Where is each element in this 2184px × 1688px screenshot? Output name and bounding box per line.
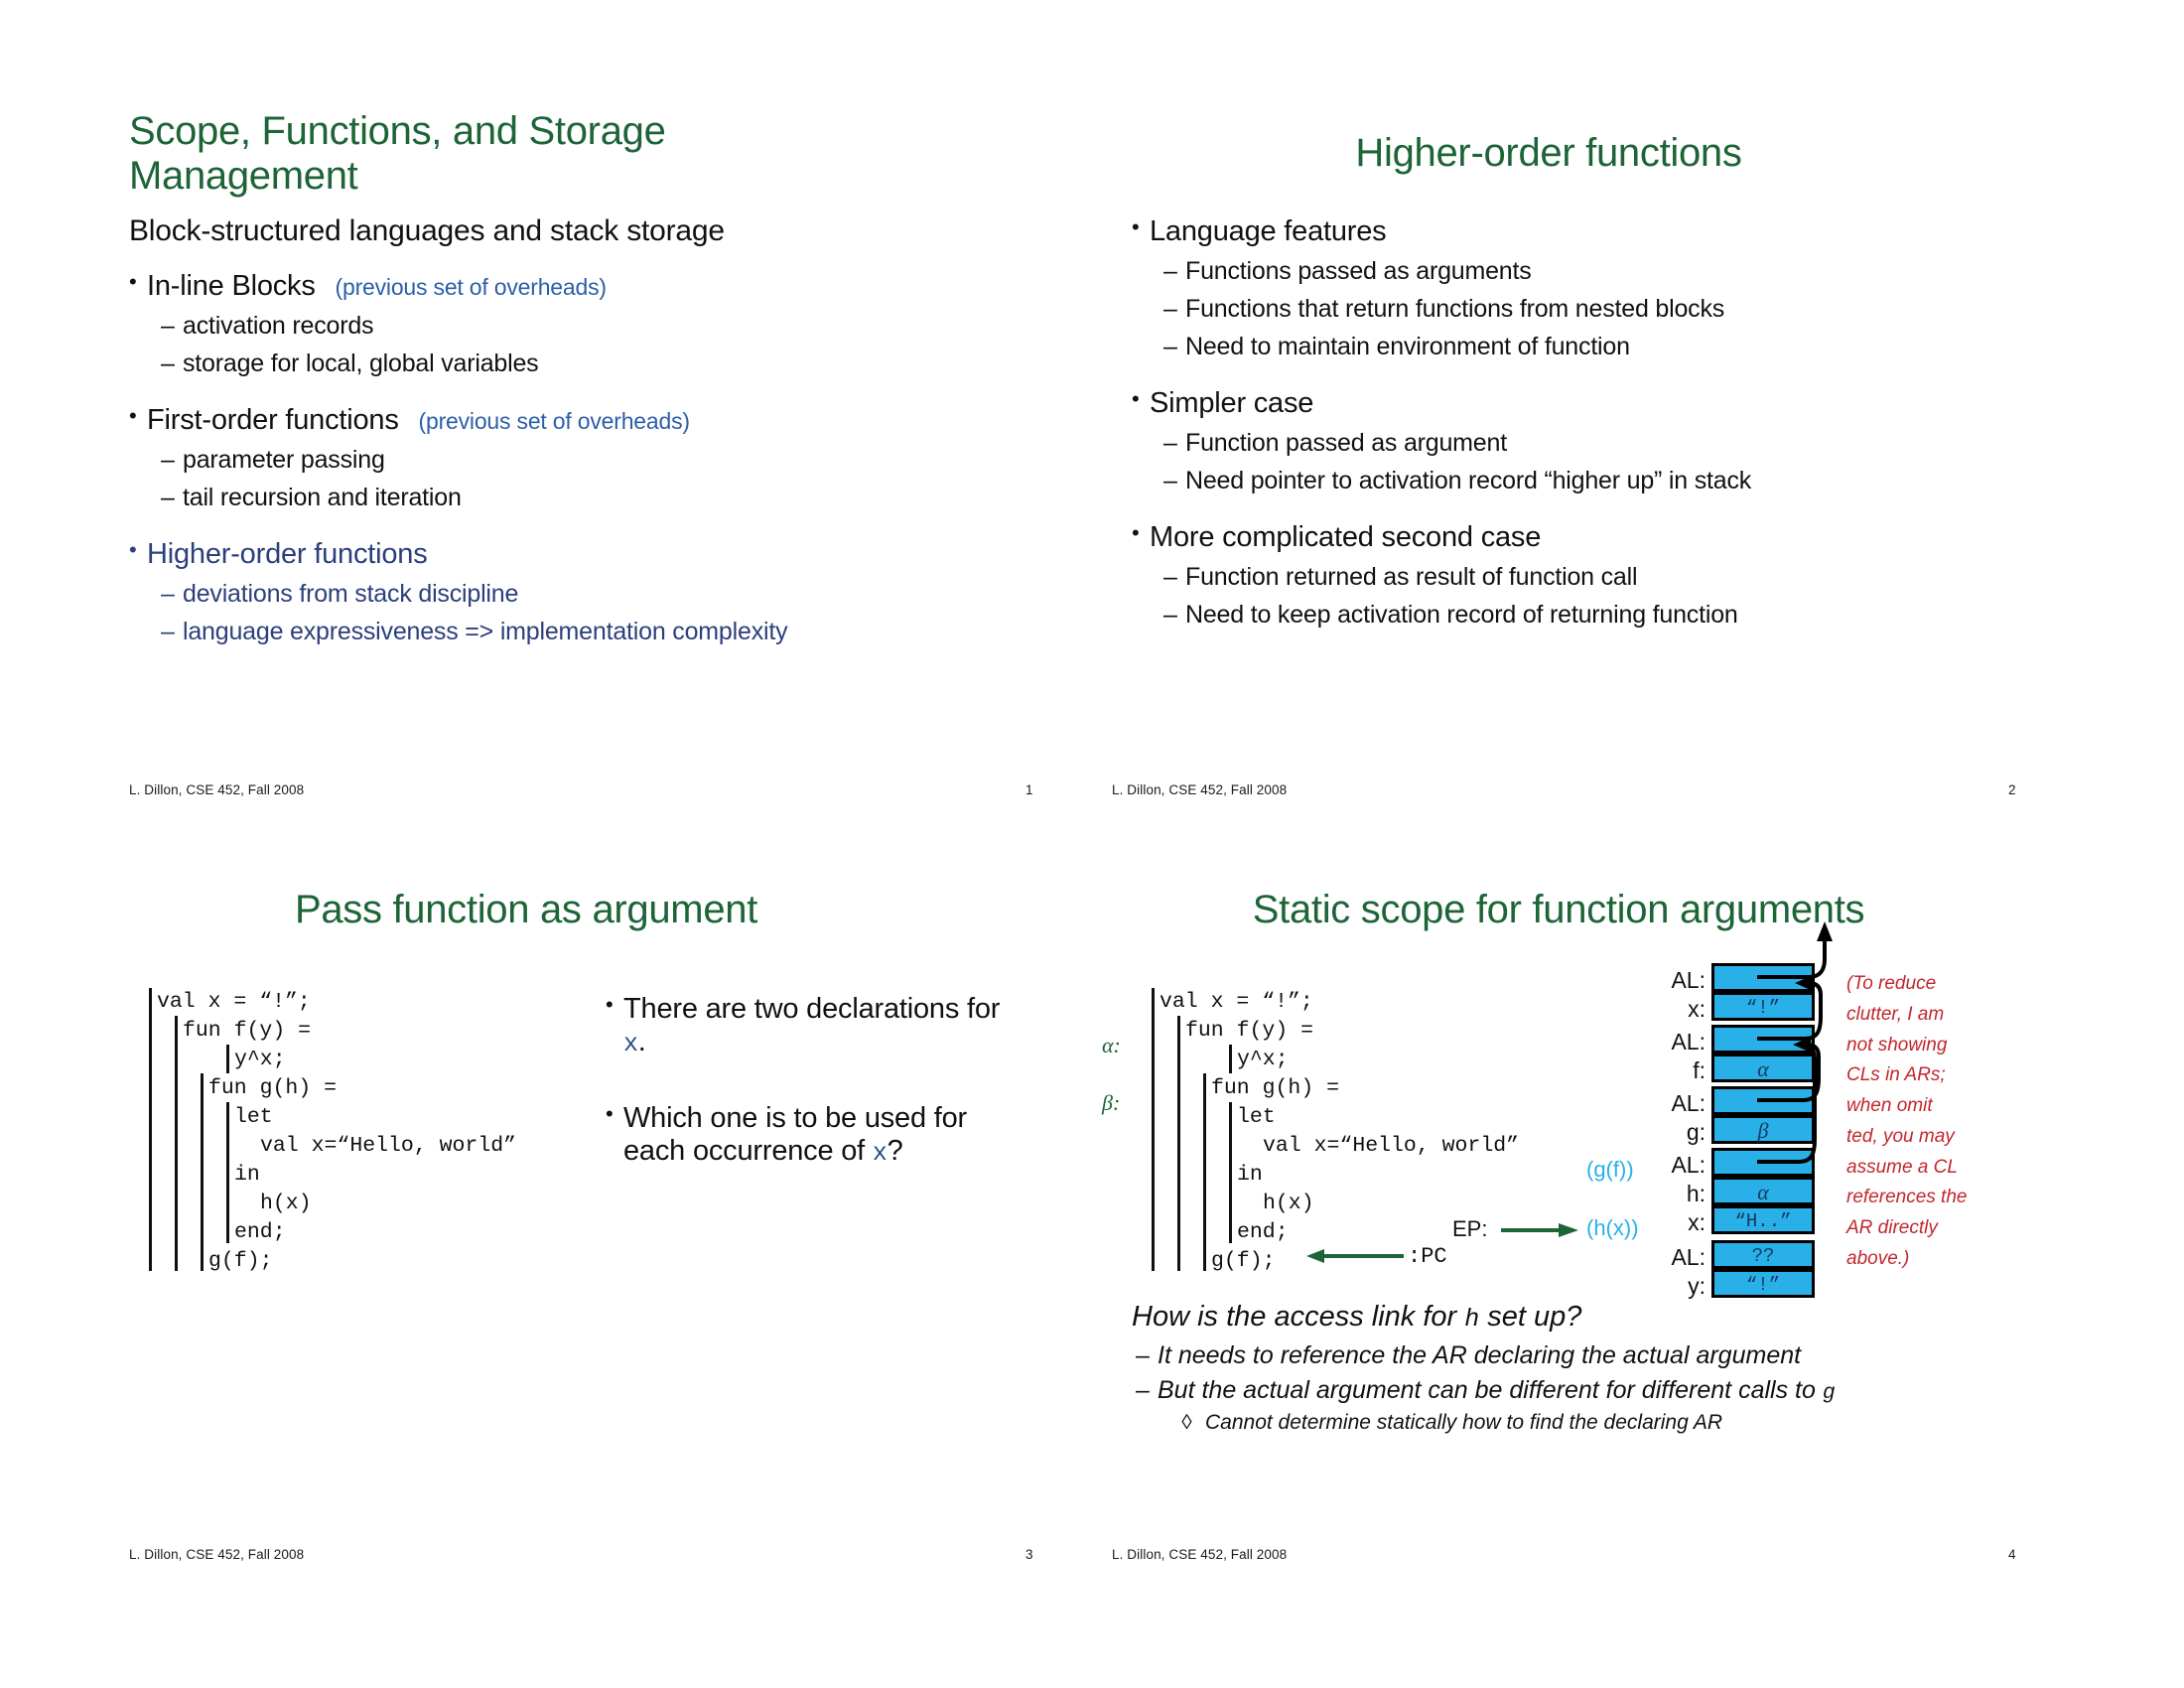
code-line: val x = “!”; [157, 988, 311, 1017]
code-line: let [234, 1103, 273, 1132]
code-line: fun f(y) = [183, 1017, 311, 1046]
nesting-bar-let [226, 1102, 229, 1243]
nesting-bar-outer [1152, 988, 1155, 1271]
bullet-which-one: Which one is to be used for each occurre… [606, 1102, 1023, 1168]
code-line: in [1237, 1161, 1263, 1190]
pc-arrow-icon [1300, 1244, 1410, 1268]
ar-row-label: AL: [1648, 1152, 1706, 1179]
code-line: val x = “!”; [1160, 988, 1313, 1017]
sub-bullet: Function passed as argument [1132, 429, 2045, 458]
inline-code-h: h [1464, 1306, 1479, 1334]
activation-record-stack: AL: x: “!” AL: f: α AL: g: β AL: h: α x: [1648, 963, 1846, 1251]
handout-page: Scope, Functions, and Storage Management… [0, 0, 2184, 1688]
annotation-line: not showing [1846, 1031, 1995, 1061]
bullet-text-pre: Which one is to be used for each occurre… [623, 1102, 967, 1167]
slide-4-footer: L. Dillon, CSE 452, Fall 2008 [1112, 1547, 1287, 1562]
annotation-line: assume a CL [1846, 1153, 1995, 1184]
sub-bullet: Need to maintain environment of function [1132, 333, 2045, 361]
slide-3-footer: L. Dillon, CSE 452, Fall 2008 [129, 1547, 304, 1562]
slide-1-footer: L. Dillon, CSE 452, Fall 2008 [129, 782, 304, 797]
call-label-h: (h(x)) [1586, 1215, 1639, 1241]
sub-bullet: activation records [129, 312, 1062, 341]
ar-row-label: AL: [1648, 967, 1706, 994]
bullet-label: More complicated second case [1150, 521, 1541, 553]
bullet-simpler-case: Simpler case [1132, 387, 2045, 420]
bullet-in-line-blocks: In-line Blocks (previous set of overhead… [129, 270, 1062, 303]
inline-code-g: g [1823, 1381, 1836, 1405]
slide-1: Scope, Functions, and Storage Management… [129, 109, 1062, 814]
nesting-bar-g [201, 1073, 204, 1271]
code-line: y^x; [234, 1046, 286, 1074]
code-line: h(x) [260, 1190, 312, 1218]
scope-label-beta: β: [1102, 1090, 1120, 1116]
sub-bullet: tail recursion and iteration [129, 484, 1062, 512]
nesting-bar-f [175, 1016, 178, 1271]
slide-4: Static scope for function arguments α: β… [1112, 874, 2045, 1579]
pc-label: :PC [1408, 1242, 1447, 1272]
slide-3-code-block: val x = “!”; fun f(y) = y^x; fun g(h) = … [149, 988, 576, 1276]
annotation-line: AR directly [1846, 1213, 1995, 1244]
bullet-first-order-functions: First-order functions (previous set of o… [129, 404, 1062, 437]
code-line: h(x) [1263, 1190, 1314, 1218]
discussion-diamond: Cannot determine statically how to find … [1132, 1411, 2025, 1435]
ar-row-label: g: [1648, 1119, 1706, 1146]
slide-2-footer: L. Dillon, CSE 452, Fall 2008 [1112, 782, 1287, 797]
bullet-text-pre: There are two declarations for [623, 993, 1000, 1025]
ar-row-label: h: [1648, 1181, 1706, 1207]
discussion-dash-1: It needs to reference the AR declaring t… [1132, 1341, 2025, 1370]
code-line: fun f(y) = [1185, 1017, 1313, 1046]
question-pre: How is the access link for [1132, 1301, 1464, 1333]
sub-bullet: Functions that return functions from nes… [1132, 295, 2045, 324]
nesting-bar-let [1229, 1102, 1232, 1243]
discussion-dash-2: But the actual argument can be different… [1132, 1376, 2025, 1405]
code-line: fun g(h) = [1211, 1074, 1339, 1103]
ar-row-label: f: [1648, 1057, 1706, 1084]
bullet-text-post: . [638, 1026, 646, 1057]
nesting-bar-g [1203, 1073, 1206, 1271]
slide-1-subtitle: Block-structured languages and stack sto… [129, 214, 1062, 248]
bullet-label: Simpler case [1150, 387, 1313, 419]
nesting-bar-fbody [1229, 1045, 1232, 1073]
annotation-line: (To reduce [1846, 969, 1995, 1000]
slide-1-page-number: 1 [1025, 782, 1033, 797]
bullet-label: Language features [1150, 215, 1386, 247]
annotation-line: ted, you may [1846, 1122, 1995, 1153]
red-annotation: (To reduce clutter, I am not showing CLs… [1846, 969, 1995, 1275]
slide-1-title: Scope, Functions, and Storage Management [129, 109, 864, 199]
question-post: set up? [1479, 1301, 1581, 1333]
scope-label-alpha: α: [1102, 1033, 1121, 1058]
ar-row-label: AL: [1648, 1244, 1706, 1271]
bullet-label: In-line Blocks [147, 270, 316, 302]
ar-row-label: y: [1648, 1273, 1706, 1300]
code-line: let [1237, 1103, 1276, 1132]
code-line: end; [234, 1218, 286, 1247]
sub-bullet: Need pointer to activation record “highe… [1132, 467, 2045, 495]
dash-text-pre: But the actual argument can be different… [1158, 1376, 1823, 1404]
code-line: y^x; [1237, 1046, 1289, 1074]
slide-2: Higher-order functions Language features… [1112, 109, 2045, 814]
slide-3: Pass function as argument val x = “!”; f… [129, 874, 1062, 1579]
bullet-two-declarations: There are two declarations for x. [606, 993, 1023, 1058]
code-line: g(f); [1211, 1247, 1276, 1276]
bullet-language-features: Language features [1132, 215, 2045, 248]
bullet-text-post: ? [887, 1135, 903, 1167]
bullet-more-complicated-second-case: More complicated second case [1132, 521, 2045, 554]
call-label-g: (g(f)) [1586, 1157, 1634, 1183]
sub-bullet: storage for local, global variables [129, 350, 1062, 378]
nesting-bar-f [1177, 1016, 1180, 1271]
sub-bullet: language expressiveness => implementatio… [129, 618, 1062, 646]
code-line: fun g(h) = [208, 1074, 337, 1103]
slide-2-page-number: 2 [2008, 782, 2016, 797]
code-line: val x=“Hello, world” [1263, 1132, 1519, 1161]
ar-row-label: AL: [1648, 1090, 1706, 1117]
code-line: in [234, 1161, 260, 1190]
annotation-line: references the [1846, 1183, 1995, 1213]
annotation-line: when omit [1846, 1091, 1995, 1122]
bullet-note: (previous set of overheads) [336, 274, 607, 300]
annotation-line: clutter, I am [1846, 1000, 1995, 1031]
slide-3-title: Pass function as argument [129, 888, 923, 932]
slide-4-title: Static scope for function arguments [1112, 888, 2005, 932]
annotation-line: above.) [1846, 1244, 1995, 1275]
inline-code-x: x [873, 1140, 887, 1168]
ar-row-label: x: [1648, 1209, 1706, 1236]
inline-code-x: x [623, 1031, 638, 1058]
ep-arrow-icon [1501, 1218, 1580, 1242]
bullet-higher-order-functions: Higher-order functions [129, 538, 1062, 571]
sub-bullet: deviations from stack discipline [129, 580, 1062, 609]
annotation-line: CLs in ARs; [1846, 1060, 1995, 1091]
ar-row-label: x: [1648, 996, 1706, 1023]
access-link-question: How is the access link for h set up? [1132, 1301, 2025, 1334]
sub-bullet: Functions passed as arguments [1132, 257, 2045, 286]
nesting-bar-fbody [226, 1045, 229, 1073]
slide-3-page-number: 3 [1025, 1547, 1033, 1562]
ar-row-label: AL: [1648, 1029, 1706, 1055]
code-line: val x=“Hello, world” [260, 1132, 516, 1161]
code-line: g(f); [208, 1247, 273, 1276]
code-line: end; [1237, 1218, 1289, 1247]
ep-label: EP: [1452, 1216, 1487, 1242]
bullet-label: Higher-order functions [147, 538, 428, 570]
sub-bullet: parameter passing [129, 446, 1062, 475]
slide-4-page-number: 4 [2008, 1547, 2016, 1562]
sub-bullet: Need to keep activation record of return… [1132, 601, 2045, 630]
bullet-label: First-order functions [147, 404, 399, 436]
bullet-note: (previous set of overheads) [419, 408, 690, 434]
nesting-bar-outer [149, 988, 152, 1271]
sub-bullet: Function returned as result of function … [1132, 563, 2045, 592]
slide-2-title: Higher-order functions [1112, 131, 1985, 176]
